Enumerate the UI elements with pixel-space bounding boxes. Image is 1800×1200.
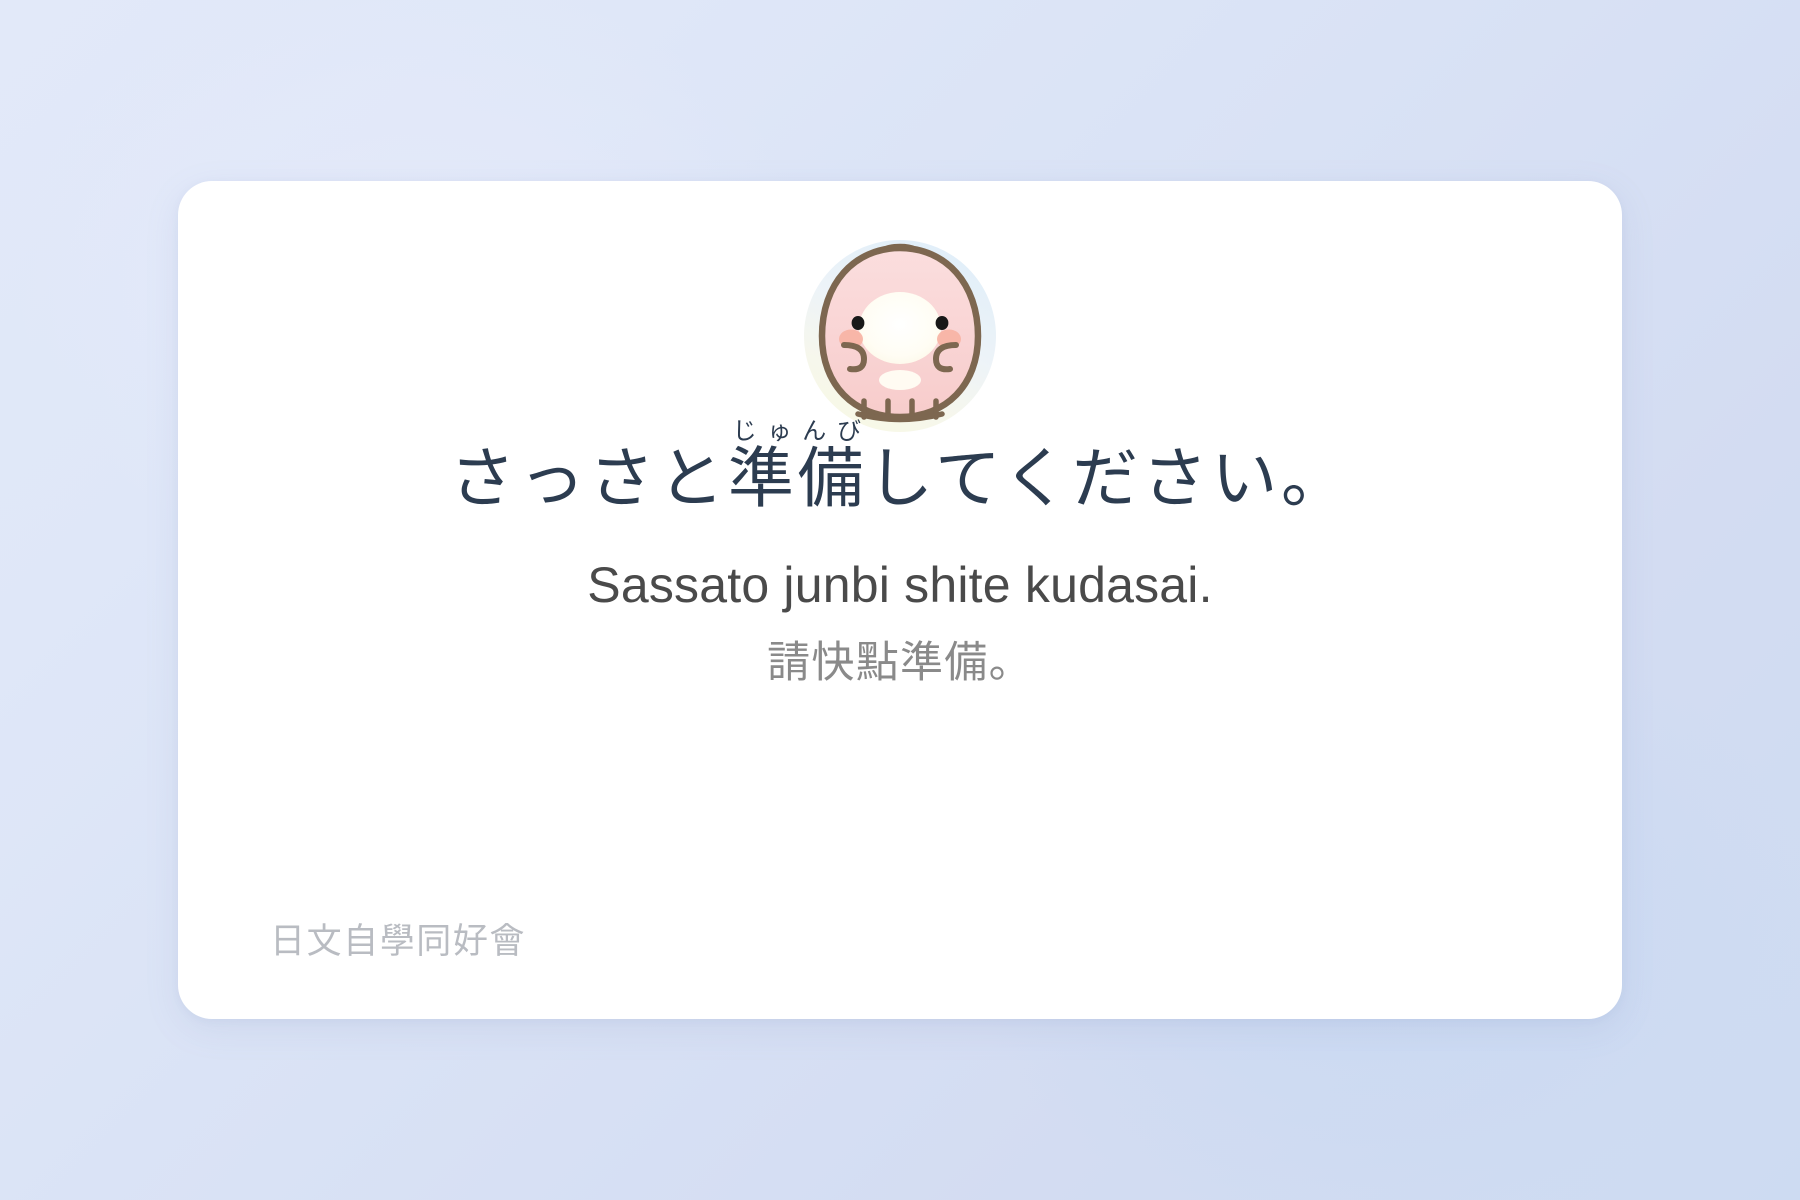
- footer-credit: 日文自學同好會: [270, 921, 526, 963]
- japanese-suffix: してください。: [867, 440, 1350, 517]
- japanese-furigana: じゅんび: [728, 417, 867, 445]
- romaji-transliteration: Sassato junbi shite kudasai.: [178, 555, 1622, 615]
- chinese-translation: 請快點準備。: [178, 637, 1622, 691]
- japanese-kanji-with-furigana: 準備じゅんび: [728, 440, 867, 517]
- japanese-prefix: さっさと: [449, 440, 728, 517]
- mascot-avatar: [800, 235, 1000, 435]
- phrase-text-block: さっさと準備じゅんびしてください。 Sassato junbi shite ku…: [178, 417, 1622, 691]
- page-background: さっさと準備じゅんびしてください。 Sassato junbi shite ku…: [0, 0, 1800, 1200]
- pink-blob-mascot-icon: [800, 235, 1000, 435]
- japanese-sentence: さっさと準備じゅんびしてください。: [178, 417, 1622, 521]
- japanese-kanji: 準備: [728, 440, 867, 517]
- phrase-card: さっさと準備じゅんびしてください。 Sassato junbi shite ku…: [178, 181, 1622, 1019]
